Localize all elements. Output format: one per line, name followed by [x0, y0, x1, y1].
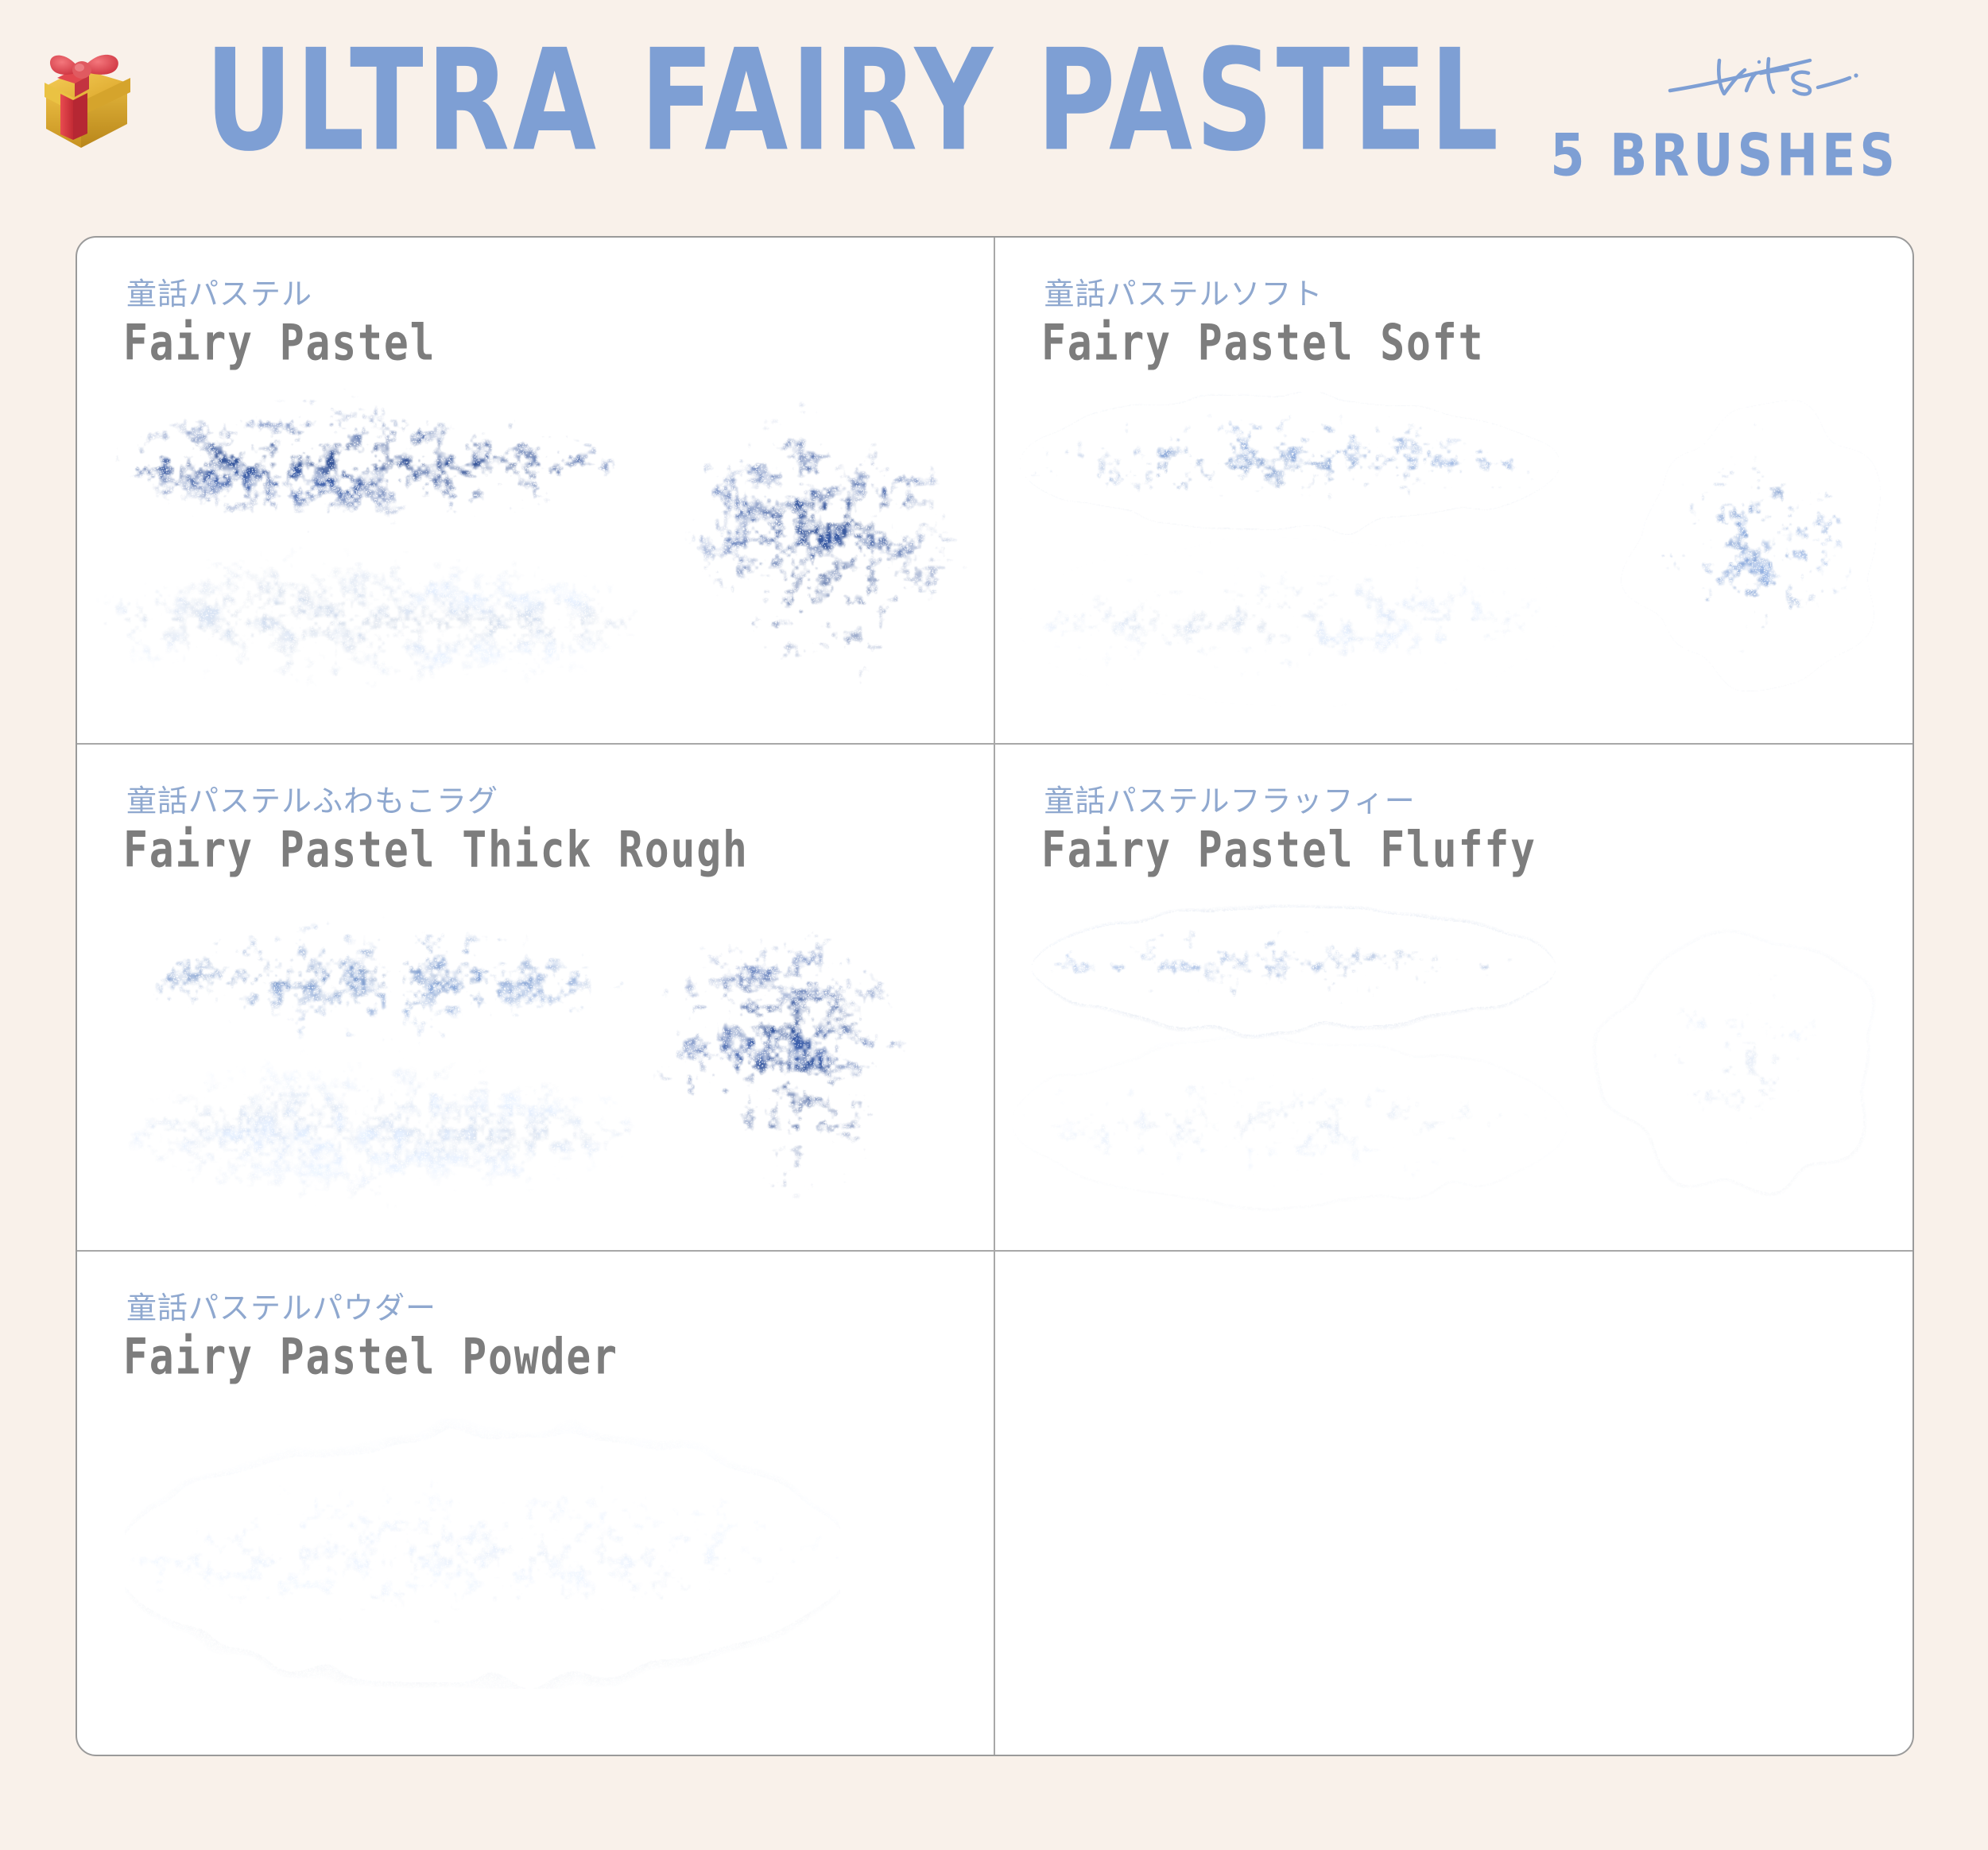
brush-card-fairy-pastel-soft[interactable]: 童話パステルソフト Fairy Pastel Soft [995, 238, 1913, 745]
brush-name-en: Fairy Pastel [123, 314, 436, 371]
brush-grid: 童話パステル Fairy Pastel 童話パステルソフト Fairy Past… [77, 238, 1912, 1755]
brush-card-fairy-pastel[interactable]: 童話パステル Fairy Pastel [77, 238, 995, 745]
brush-card-fairy-pastel-fluffy[interactable]: 童話パステルフラッフィー Fairy Pastel Fluffy [995, 745, 1913, 1252]
brush-stroke-swatch [1011, 1031, 1568, 1213]
empty-card-slot [995, 1252, 1913, 1755]
brush-stroke-swatch [657, 385, 991, 702]
page-header: ULTRA FAIRY PASTEL 5 BRUSHES [0, 0, 1988, 236]
brush-stroke-swatch [113, 1039, 637, 1221]
brush-card-fairy-pastel-powder[interactable]: 童話パステルパウダー Fairy Pastel Powder [77, 1252, 995, 1755]
brush-swatch-area [77, 381, 994, 743]
brush-name-jp: 童話パステル [126, 269, 312, 313]
brush-stroke-swatch [1583, 904, 1901, 1213]
gift-box-icon [33, 41, 145, 153]
brush-name-jp: 童話パステルソフト [1044, 269, 1323, 313]
brush-name-jp: 童話パステルふわもこラグ [126, 776, 498, 820]
brush-name-jp: 童話パステルパウダー [126, 1283, 436, 1327]
brush-name-en: Fairy Pastel Fluffy [1041, 821, 1537, 878]
brush-swatch-area [77, 1395, 994, 1755]
brush-card-fairy-pastel-thick-rough[interactable]: 童話パステルふわもこラグ Fairy Pastel Thick Rough [77, 745, 995, 1252]
brush-name-en: Fairy Pastel Soft [1041, 314, 1484, 371]
brush-swatch-area [77, 888, 994, 1250]
brush-swatch-area [995, 888, 1913, 1250]
brush-name-en: Fairy Pastel Powder [123, 1328, 618, 1385]
brush-stroke-swatch [1031, 896, 1556, 1039]
brush-stroke-swatch [85, 528, 641, 710]
brush-stroke-swatch [125, 1418, 840, 1689]
brush-stroke-swatch [618, 888, 951, 1221]
brush-name-en: Fairy Pastel Thick Rough [123, 821, 749, 878]
brush-stroke-swatch [93, 389, 618, 540]
brush-stroke-swatch [133, 904, 626, 1055]
brush-name-jp: 童話パステルフラッフィー [1044, 776, 1416, 820]
brush-stroke-swatch [1599, 389, 1913, 706]
brand-signature-kits [1662, 49, 1877, 106]
brush-swatch-area [995, 381, 1913, 743]
brush-count-label: 5 BRUSHES [1550, 121, 1899, 189]
brush-stroke-swatch [1019, 392, 1560, 535]
brush-stroke-swatch [1011, 532, 1568, 706]
brush-showcase-panel: 童話パステル Fairy Pastel 童話パステルソフト Fairy Past… [76, 236, 1914, 1756]
page-title: ULTRA FAIRY PASTEL [205, 32, 1502, 172]
